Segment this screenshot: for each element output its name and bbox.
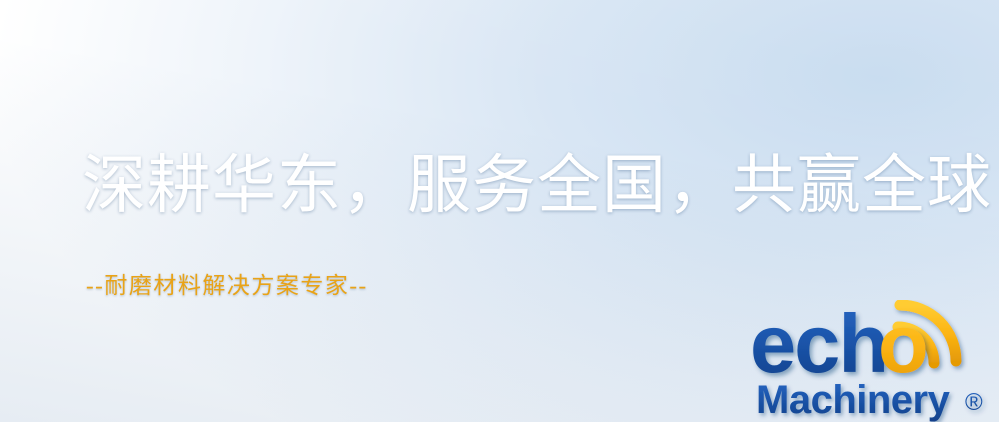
banner-headline: 深耕华东，服务全国，共赢全球 xyxy=(82,151,992,220)
svg-text:Machinery: Machinery xyxy=(756,378,951,422)
echo-machinery-logo[interactable]: ech o Machinery ® xyxy=(752,300,999,422)
registered-trademark-symbol: ® xyxy=(965,389,983,416)
svg-text:ech: ech xyxy=(752,300,887,390)
banner-subtitle: --耐磨材料解决方案专家-- xyxy=(86,266,368,300)
svg-text:o: o xyxy=(878,300,929,390)
promotional-banner: 深耕华东，服务全国，共赢全球 --耐磨材料解决方案专家-- xyxy=(0,0,999,422)
logo-tagline-machinery: Machinery ® xyxy=(756,378,983,422)
logo-word-ech: ech xyxy=(752,300,887,390)
logo-letter-o-accent: o xyxy=(878,300,929,390)
